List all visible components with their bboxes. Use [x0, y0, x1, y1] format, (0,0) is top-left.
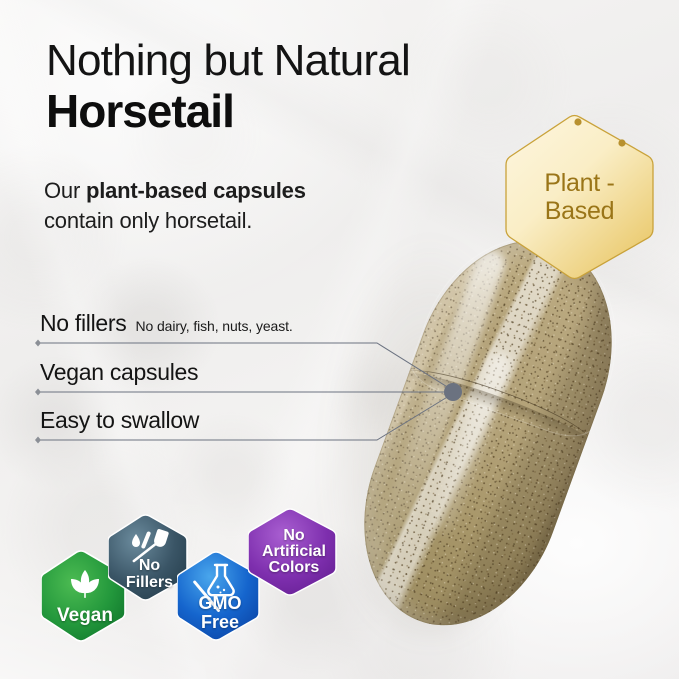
badge-no-artificial-colors[interactable]: No Artificial Colors	[248, 508, 340, 596]
certification-badge-row: Vegan No Fillers	[0, 0, 679, 679]
badge-label-line-1: No	[283, 528, 304, 544]
badge-label-line-2: Free	[201, 613, 239, 631]
badge-label-line-3: Colors	[269, 560, 320, 576]
badge-label-line-2: Artificial	[262, 544, 326, 560]
badge-label-line-1: No	[139, 558, 160, 574]
badge-label-line-1: Vegan	[57, 606, 113, 625]
badge-label: No Artificial Colors	[248, 508, 340, 596]
badge-label-line-1: GMO	[199, 594, 242, 612]
badge-label-line-2: Fillers	[126, 575, 173, 591]
product-infographic: Nothing but Natural Horsetail Our plant-…	[0, 0, 679, 679]
